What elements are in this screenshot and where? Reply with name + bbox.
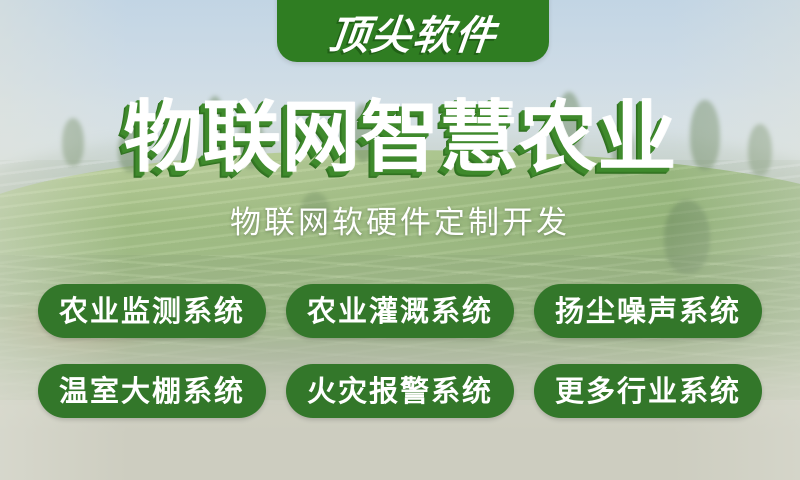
service-button-dust-noise[interactable]: 扬尘噪声系统 (534, 284, 762, 338)
brand-badge-label: 顶尖软件 (327, 16, 499, 56)
service-button-label: 农业监测系统 (59, 297, 245, 326)
promo-banner: 顶尖软件 物联网智慧农业 物联网软硬件定制开发 农业监测系统 农业灌溉系统 扬尘… (0, 0, 800, 480)
service-button-more-industries[interactable]: 更多行业系统 (534, 364, 762, 418)
headline-subtitle: 物联网软硬件定制开发 (0, 204, 800, 242)
service-button-label: 扬尘噪声系统 (555, 297, 741, 326)
brand-badge: 顶尖软件 (277, 0, 549, 62)
service-button-row-1: 农业监测系统 农业灌溉系统 扬尘噪声系统 (0, 284, 800, 338)
service-button-fire-alarm[interactable]: 火灾报警系统 (286, 364, 514, 418)
service-button-label: 农业灌溉系统 (307, 297, 493, 326)
service-button-label: 温室大棚系统 (59, 377, 245, 406)
service-button-label: 火灾报警系统 (307, 377, 493, 406)
service-button-greenhouse[interactable]: 温室大棚系统 (38, 364, 266, 418)
service-button-agriculture-irrigation[interactable]: 农业灌溉系统 (286, 284, 514, 338)
service-button-row-2: 温室大棚系统 火灾报警系统 更多行业系统 (0, 364, 800, 418)
headline-title: 物联网智慧农业 (0, 92, 800, 184)
service-button-label: 更多行业系统 (555, 377, 741, 406)
service-button-agriculture-monitoring[interactable]: 农业监测系统 (38, 284, 266, 338)
